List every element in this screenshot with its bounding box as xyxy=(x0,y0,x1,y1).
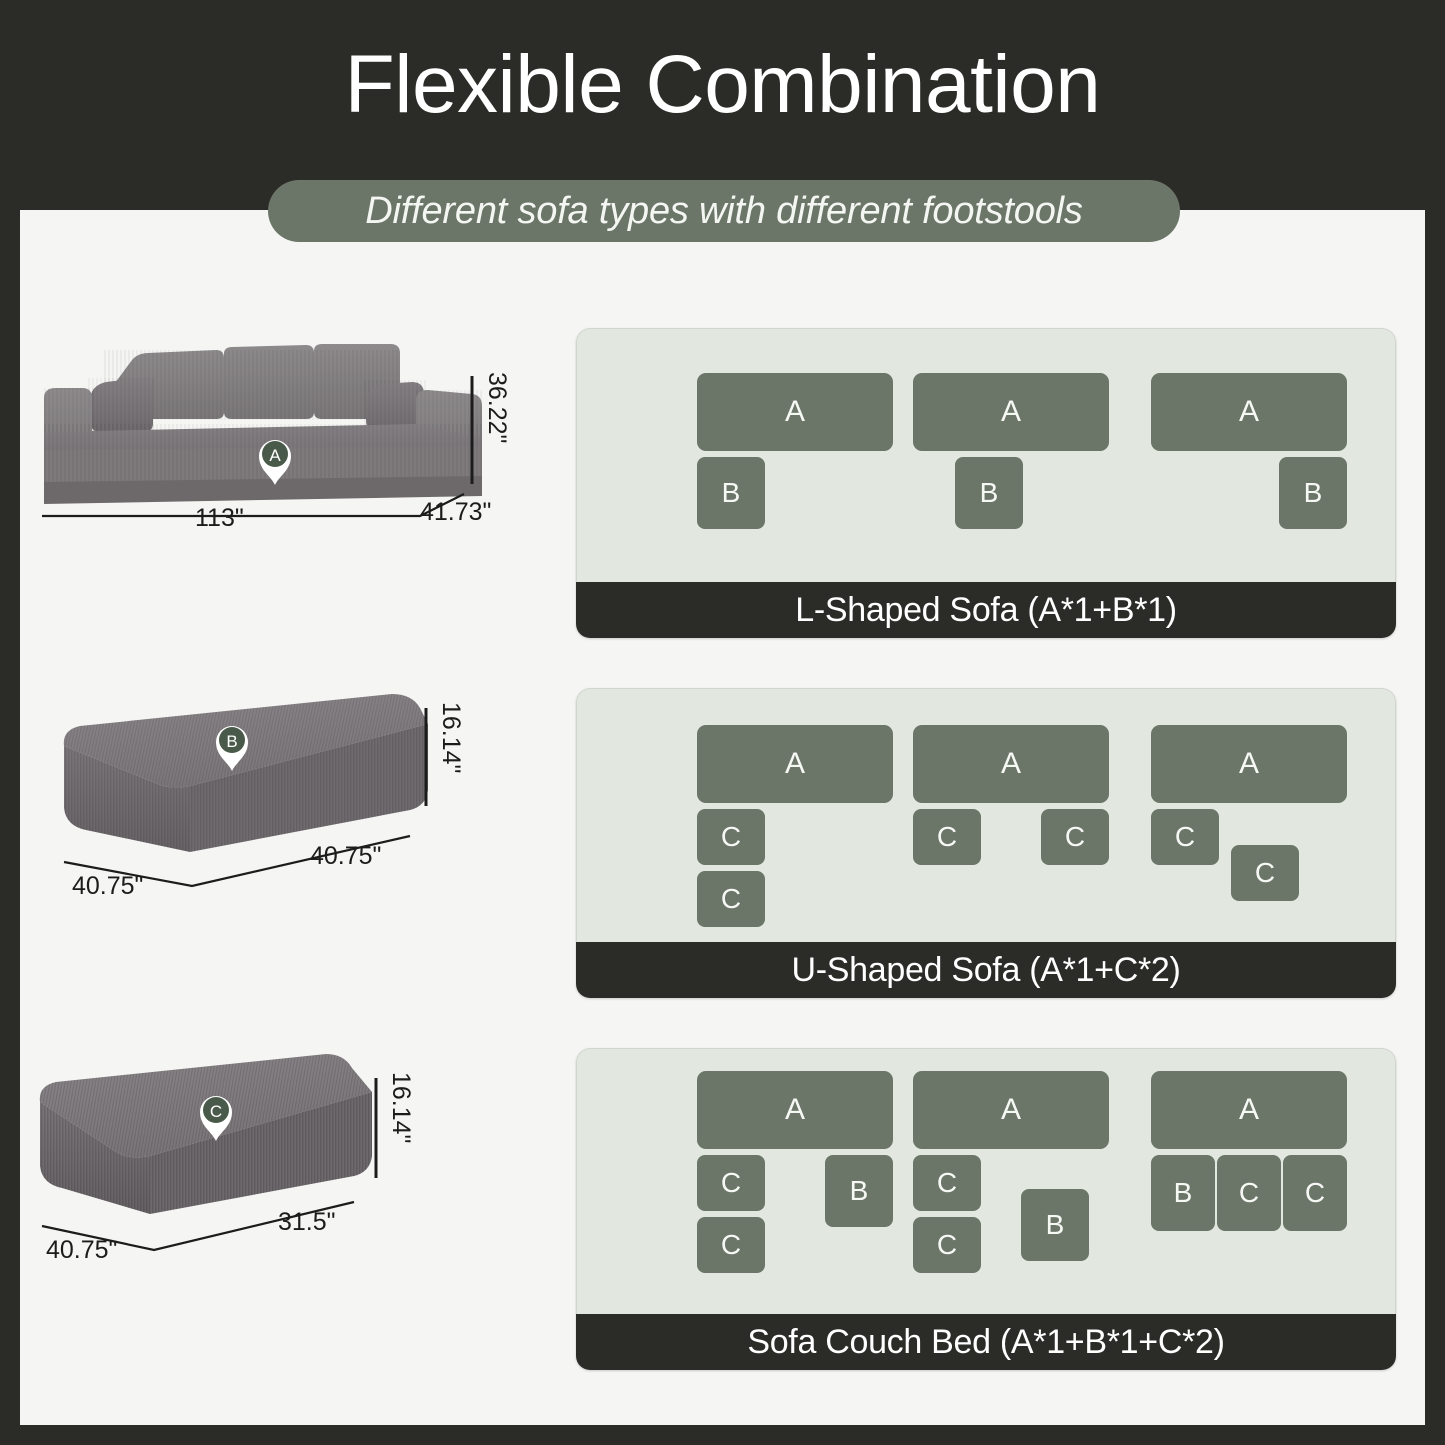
configuration-2: AB xyxy=(893,329,1093,582)
module-block-c: C xyxy=(1231,845,1299,901)
module-block-a: A xyxy=(1151,373,1347,451)
module-block-b: B xyxy=(955,457,1023,529)
dimension-height-b: 16.14" xyxy=(436,702,465,773)
product-a: A 113" 41.73" 36.22" xyxy=(20,320,580,570)
panel-caption: U-Shaped Sofa (A*1+C*2) xyxy=(576,942,1396,998)
module-block-a: A xyxy=(697,725,893,803)
panel-caption: L-Shaped Sofa (A*1+B*1) xyxy=(576,582,1396,638)
subtitle-pill: Different sofa types with different foot… xyxy=(268,180,1180,242)
poster-frame: Flexible Combination Different sofa type… xyxy=(0,0,1445,1445)
module-block-c: C xyxy=(697,1217,765,1273)
module-block-c: C xyxy=(913,1217,981,1273)
module-block-a: A xyxy=(1151,725,1347,803)
panel-body: ABABAB xyxy=(576,328,1396,582)
dimension-depth-a: 41.73" xyxy=(420,498,491,527)
module-block-a: A xyxy=(913,725,1109,803)
configuration-1: ACC xyxy=(635,689,835,942)
dimension-width-b: 40.75" xyxy=(72,872,143,901)
dimension-width-c: 40.75" xyxy=(46,1236,117,1265)
combination-panel-u-shaped: ACCACCACC U-Shaped Sofa (A*1+C*2) xyxy=(576,688,1396,998)
sofa-illustration-a: A xyxy=(20,320,580,570)
product-b: B 40.75" 40.75" 16.14" xyxy=(20,680,580,930)
module-block-c: C xyxy=(697,871,765,927)
module-block-a: A xyxy=(1151,1071,1347,1149)
module-block-b: B xyxy=(1021,1189,1089,1261)
module-block-a: A xyxy=(697,373,893,451)
panel-body: ACCBACCBABCC xyxy=(576,1048,1396,1314)
module-block-c: C xyxy=(697,809,765,865)
subtitle-text: Different sofa types with different foot… xyxy=(365,190,1082,233)
module-block-b: B xyxy=(825,1155,893,1227)
configuration-2: ACC xyxy=(893,689,1093,942)
module-block-c: C xyxy=(913,809,981,865)
module-block-a: A xyxy=(913,373,1109,451)
panel-body: ACCACCACC xyxy=(576,688,1396,942)
svg-text:A: A xyxy=(269,446,281,465)
svg-text:C: C xyxy=(210,1102,222,1121)
page-title: Flexible Combination xyxy=(0,44,1445,126)
configuration-2: ACCB xyxy=(893,1049,1093,1314)
module-block-c: C xyxy=(1151,809,1219,865)
module-block-c: C xyxy=(1283,1155,1347,1231)
configuration-3: ABCC xyxy=(1151,1049,1351,1314)
module-block-b: B xyxy=(697,457,765,529)
product-c: C 40.75" 31.5" 16.14" xyxy=(20,1040,580,1290)
dimension-width-a: 113" xyxy=(195,504,244,533)
configuration-3: ACC xyxy=(1151,689,1351,942)
module-block-c: C xyxy=(913,1155,981,1211)
module-block-a: A xyxy=(697,1071,893,1149)
configuration-1: ACCB xyxy=(635,1049,835,1314)
dimension-height-a: 36.22" xyxy=(482,372,511,443)
combination-panel-sofa-couch-bed: ACCBACCBABCC Sofa Couch Bed (A*1+B*1+C*2… xyxy=(576,1048,1396,1370)
module-block-c: C xyxy=(1217,1155,1281,1231)
panel-caption: Sofa Couch Bed (A*1+B*1+C*2) xyxy=(576,1314,1396,1370)
svg-text:B: B xyxy=(226,732,237,751)
module-block-a: A xyxy=(913,1071,1109,1149)
configuration-3: AB xyxy=(1151,329,1351,582)
module-block-b: B xyxy=(1151,1155,1215,1231)
content-sheet: A 113" 41.73" 36.22" xyxy=(20,210,1425,1425)
combination-panel-l-shaped: ABABAB L-Shaped Sofa (A*1+B*1) xyxy=(576,328,1396,638)
module-block-b: B xyxy=(1279,457,1347,529)
dimension-depth-b: 40.75" xyxy=(310,842,381,871)
dimension-depth-c: 31.5" xyxy=(278,1208,336,1237)
module-block-c: C xyxy=(697,1155,765,1211)
module-block-c: C xyxy=(1041,809,1109,865)
dimension-height-c: 16.14" xyxy=(386,1072,415,1143)
configuration-1: AB xyxy=(635,329,835,582)
